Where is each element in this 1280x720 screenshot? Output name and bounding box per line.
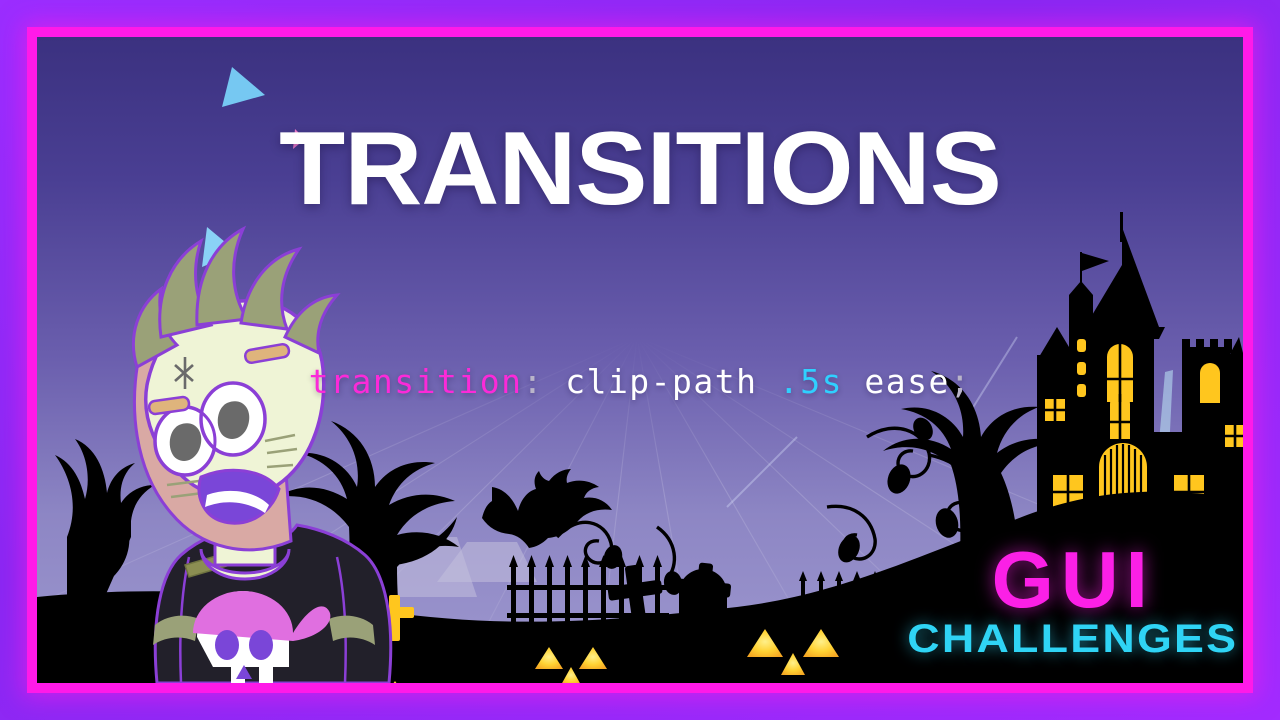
slide-stage: TRANSITIONS transition: clip-path .5s ea…: [0, 0, 1280, 720]
code-easing: ease: [864, 362, 949, 401]
code-colon: :: [522, 362, 543, 401]
code-snippet: transition: clip-path .5s ease;: [37, 362, 1243, 401]
page-title: TRANSITIONS: [37, 117, 1243, 221]
code-semicolon: ;: [950, 362, 971, 401]
magenta-frame: TRANSITIONS transition: clip-path .5s ea…: [27, 27, 1253, 693]
logo-line-challenges: CHALLENGES: [908, 619, 1239, 659]
code-value: clip-path: [565, 362, 757, 401]
logo-line-gui: GUI: [925, 543, 1221, 617]
scene-canvas: TRANSITIONS transition: clip-path .5s ea…: [37, 37, 1243, 683]
code-duration: .5s: [779, 362, 843, 401]
code-property: transition: [309, 362, 523, 401]
gui-challenges-logo: GUI CHALLENGES: [925, 543, 1221, 659]
